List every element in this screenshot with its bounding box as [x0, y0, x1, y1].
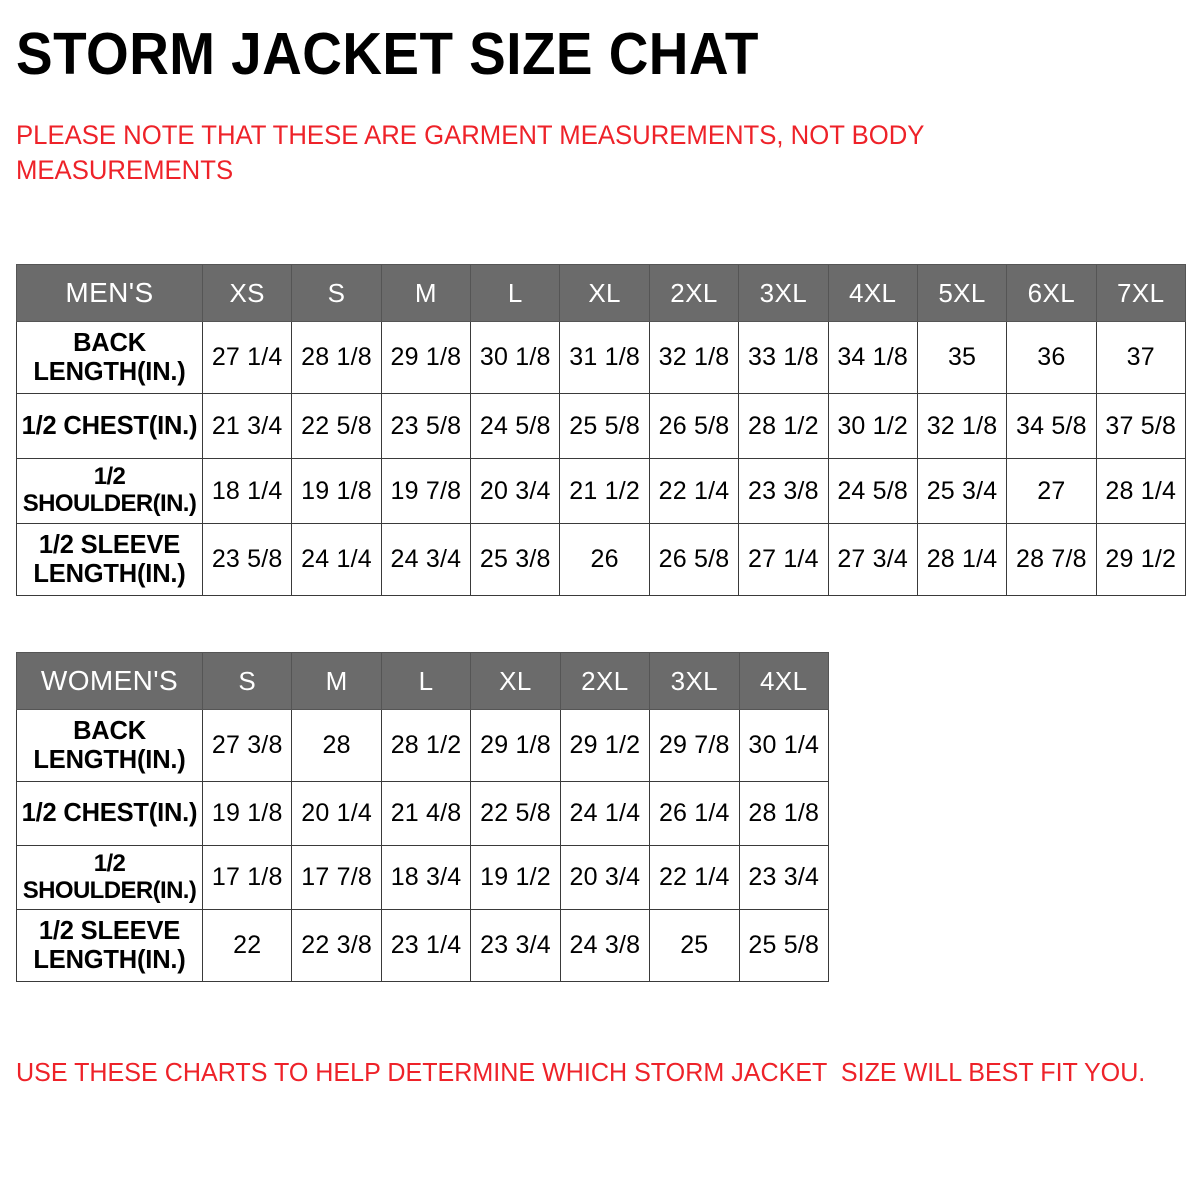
measurement-cell: 28 1/2 — [739, 394, 828, 459]
mens-table-body: BACK LENGTH(IN.)27 1/428 1/829 1/830 1/8… — [17, 322, 1186, 596]
mens-size-header-7xl: 7XL — [1096, 265, 1185, 322]
mens-size-header-s: S — [292, 265, 381, 322]
measurement-cell: 24 1/4 — [292, 524, 381, 596]
womens-table-corner-label: WOMEN'S — [17, 653, 203, 710]
womens-size-header-4xl: 4XL — [739, 653, 828, 710]
table-row: BACK LENGTH(IN.)27 3/82828 1/229 1/829 1… — [17, 710, 829, 782]
womens-measurement-label: BACK LENGTH(IN.) — [17, 710, 203, 782]
measurement-cell: 35 — [917, 322, 1006, 394]
measurement-cell: 27 1/4 — [739, 524, 828, 596]
measurement-cell: 25 3/4 — [917, 459, 1006, 524]
womens-header-row: WOMEN'SSMLXL2XL3XL4XL — [17, 653, 829, 710]
measurement-cell: 20 1/4 — [292, 782, 381, 846]
measurement-cell: 25 5/8 — [560, 394, 649, 459]
measurement-cell: 22 5/8 — [292, 394, 381, 459]
measurement-cell: 20 3/4 — [471, 459, 560, 524]
measurement-cell: 30 1/4 — [739, 710, 828, 782]
measurement-cell: 23 3/8 — [739, 459, 828, 524]
measurement-cell: 19 1/8 — [203, 782, 292, 846]
mens-measurement-label: 1/2 SHOULDER(IN.) — [17, 459, 203, 524]
mens-table-header: MEN'SXSSMLXL2XL3XL4XL5XL6XL7XL — [17, 265, 1186, 322]
measurement-cell: 23 5/8 — [203, 524, 292, 596]
mens-size-header-xs: XS — [203, 265, 292, 322]
mens-measurement-label: 1/2 SLEEVE LENGTH(IN.) — [17, 524, 203, 596]
mens-size-header-2xl: 2XL — [649, 265, 738, 322]
measurement-cell: 17 7/8 — [292, 846, 381, 910]
measurement-cell: 26 5/8 — [649, 524, 738, 596]
womens-size-header-2xl: 2XL — [560, 653, 649, 710]
measurement-cell: 28 1/2 — [381, 710, 470, 782]
table-row: 1/2 CHEST(IN.)21 3/422 5/823 5/824 5/825… — [17, 394, 1186, 459]
measurement-cell: 22 1/4 — [650, 846, 739, 910]
mens-size-header-4xl: 4XL — [828, 265, 917, 322]
womens-size-table: WOMEN'SSMLXL2XL3XL4XL BACK LENGTH(IN.)27… — [16, 652, 829, 982]
measurement-cell: 28 — [292, 710, 381, 782]
measurement-cell: 24 5/8 — [828, 459, 917, 524]
table-row: 1/2 SLEEVE LENGTH(IN.)2222 3/823 1/423 3… — [17, 910, 829, 982]
womens-size-header-3xl: 3XL — [650, 653, 739, 710]
womens-size-header-m: M — [292, 653, 381, 710]
measurement-cell: 28 1/8 — [739, 782, 828, 846]
mens-size-header-6xl: 6XL — [1007, 265, 1096, 322]
table-row: 1/2 CHEST(IN.)19 1/820 1/421 4/822 5/824… — [17, 782, 829, 846]
measurement-cell: 22 5/8 — [471, 782, 560, 846]
womens-measurement-label: 1/2 SHOULDER(IN.) — [17, 846, 203, 910]
measurement-cell: 25 — [650, 910, 739, 982]
measurement-cell: 22 — [203, 910, 292, 982]
womens-size-header-s: S — [203, 653, 292, 710]
choose-size-note: USE THESE CHARTS TO HELP DETERMINE WHICH… — [16, 1057, 1145, 1088]
measurement-cell: 23 3/4 — [471, 910, 560, 982]
measurement-cell: 33 1/8 — [739, 322, 828, 394]
measurement-cell: 18 3/4 — [381, 846, 470, 910]
measurement-cell: 21 3/4 — [203, 394, 292, 459]
measurement-cell: 32 1/8 — [917, 394, 1006, 459]
garment-measurement-note: PLEASE NOTE THAT THESE ARE GARMENT MEASU… — [16, 118, 947, 188]
measurement-cell: 18 1/4 — [203, 459, 292, 524]
measurement-cell: 19 7/8 — [381, 459, 470, 524]
mens-measurement-label: 1/2 CHEST(IN.) — [17, 394, 203, 459]
measurement-cell: 32 1/8 — [649, 322, 738, 394]
measurement-cell: 22 3/8 — [292, 910, 381, 982]
measurement-cell: 25 5/8 — [739, 910, 828, 982]
measurement-cell: 30 1/8 — [471, 322, 560, 394]
measurement-cell: 21 1/2 — [560, 459, 649, 524]
measurement-cell: 26 5/8 — [649, 394, 738, 459]
mens-measurement-label: BACK LENGTH(IN.) — [17, 322, 203, 394]
womens-size-header-xl: XL — [471, 653, 560, 710]
table-row: 1/2 SHOULDER(IN.)17 1/817 7/818 3/419 1/… — [17, 846, 829, 910]
mens-size-header-l: L — [471, 265, 560, 322]
measurement-cell: 37 — [1096, 322, 1185, 394]
mens-table-corner-label: MEN'S — [17, 265, 203, 322]
measurement-cell: 24 1/4 — [560, 782, 649, 846]
mens-size-table: MEN'SXSSMLXL2XL3XL4XL5XL6XL7XL BACK LENG… — [16, 264, 1186, 596]
measurement-cell: 29 1/8 — [471, 710, 560, 782]
measurement-cell: 28 1/4 — [917, 524, 1006, 596]
measurement-cell: 24 3/8 — [560, 910, 649, 982]
measurement-cell: 31 1/8 — [560, 322, 649, 394]
measurement-cell: 29 1/2 — [560, 710, 649, 782]
table-row: 1/2 SHOULDER(IN.)18 1/419 1/819 7/820 3/… — [17, 459, 1186, 524]
mens-size-header-3xl: 3XL — [739, 265, 828, 322]
measurement-cell: 17 1/8 — [203, 846, 292, 910]
measurement-cell: 34 1/8 — [828, 322, 917, 394]
measurement-cell: 37 5/8 — [1096, 394, 1185, 459]
measurement-cell: 34 5/8 — [1007, 394, 1096, 459]
mens-size-header-xl: XL — [560, 265, 649, 322]
womens-table-body: BACK LENGTH(IN.)27 3/82828 1/229 1/829 1… — [17, 710, 829, 982]
measurement-cell: 29 1/8 — [381, 322, 470, 394]
womens-measurement-label: 1/2 CHEST(IN.) — [17, 782, 203, 846]
table-row: 1/2 SLEEVE LENGTH(IN.)23 5/824 1/424 3/4… — [17, 524, 1186, 596]
measurement-cell: 27 3/8 — [203, 710, 292, 782]
table-row: BACK LENGTH(IN.)27 1/428 1/829 1/830 1/8… — [17, 322, 1186, 394]
measurement-cell: 23 1/4 — [381, 910, 470, 982]
measurement-cell: 19 1/2 — [471, 846, 560, 910]
measurement-cell: 20 3/4 — [560, 846, 649, 910]
measurement-cell: 29 1/2 — [1096, 524, 1185, 596]
measurement-cell: 36 — [1007, 322, 1096, 394]
measurement-cell: 24 5/8 — [471, 394, 560, 459]
measurement-cell: 30 1/2 — [828, 394, 917, 459]
mens-size-header-5xl: 5XL — [917, 265, 1006, 322]
measurement-cell: 28 1/8 — [292, 322, 381, 394]
measurement-cell: 26 — [560, 524, 649, 596]
page-title: STORM JACKET SIZE CHAT — [16, 24, 759, 86]
measurement-cell: 28 7/8 — [1007, 524, 1096, 596]
measurement-cell: 19 1/8 — [292, 459, 381, 524]
measurement-cell: 22 1/4 — [649, 459, 738, 524]
measurement-cell: 25 3/8 — [471, 524, 560, 596]
mens-header-row: MEN'SXSSMLXL2XL3XL4XL5XL6XL7XL — [17, 265, 1186, 322]
womens-measurement-label: 1/2 SLEEVE LENGTH(IN.) — [17, 910, 203, 982]
measurement-cell: 26 1/4 — [650, 782, 739, 846]
womens-size-header-l: L — [381, 653, 470, 710]
measurement-cell: 27 3/4 — [828, 524, 917, 596]
measurement-cell: 23 3/4 — [739, 846, 828, 910]
measurement-cell: 27 — [1007, 459, 1096, 524]
measurement-cell: 28 1/4 — [1096, 459, 1185, 524]
measurement-cell: 21 4/8 — [381, 782, 470, 846]
mens-size-header-m: M — [381, 265, 470, 322]
measurement-cell: 24 3/4 — [381, 524, 470, 596]
womens-table-header: WOMEN'SSMLXL2XL3XL4XL — [17, 653, 829, 710]
measurement-cell: 23 5/8 — [381, 394, 470, 459]
measurement-cell: 29 7/8 — [650, 710, 739, 782]
measurement-cell: 27 1/4 — [203, 322, 292, 394]
